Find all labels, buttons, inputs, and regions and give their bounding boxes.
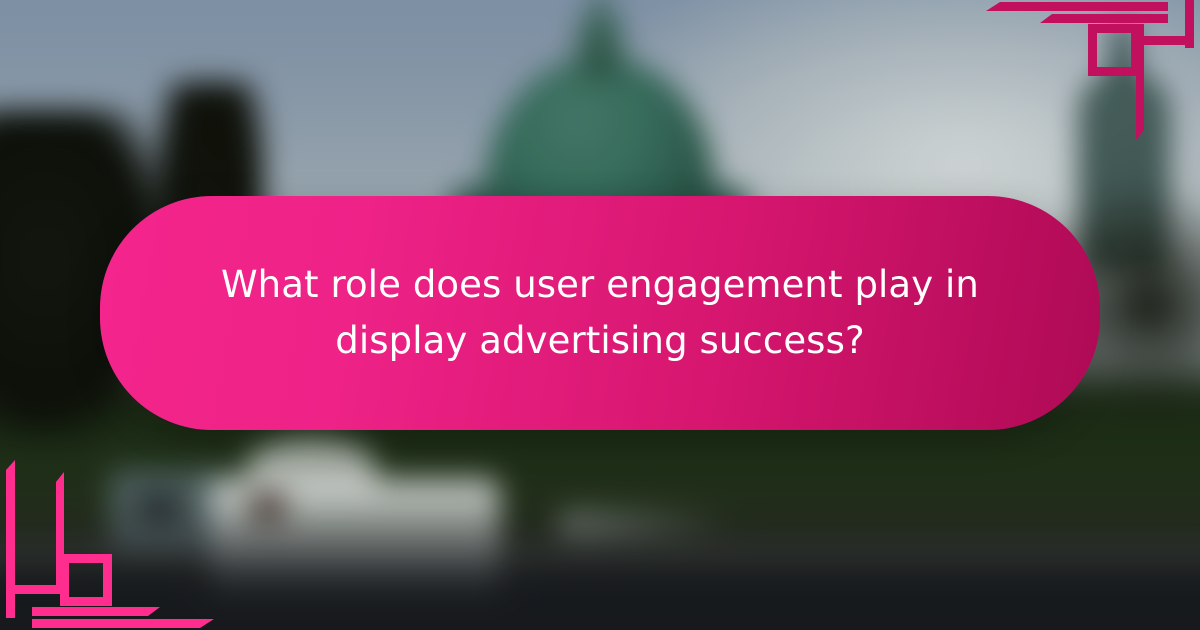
deco-bl-connector-bar bbox=[6, 585, 68, 594]
corner-bracket-top-right bbox=[970, 0, 1200, 150]
dome-spire bbox=[595, 0, 605, 28]
deco-bl-horizontal-bar-short bbox=[32, 607, 160, 616]
deco-bl-vertical-edge bbox=[6, 460, 15, 618]
deco-bl-hollow-square bbox=[60, 554, 112, 606]
deco-tr-connector-bar bbox=[1132, 36, 1194, 45]
question-text: What role does user engagement play in d… bbox=[220, 257, 980, 369]
banner-stage: What role does user engagement play in d… bbox=[0, 0, 1200, 630]
tree-silhouette-small bbox=[196, 90, 248, 210]
deco-bl-horizontal-bar-long bbox=[32, 619, 214, 628]
deco-tr-horizontal-bar-long bbox=[986, 2, 1168, 11]
corner-bracket-bottom-left bbox=[0, 420, 230, 630]
deco-tr-horizontal-bar-short bbox=[1040, 14, 1168, 23]
question-card: What role does user engagement play in d… bbox=[100, 196, 1100, 430]
deco-tr-hollow-square bbox=[1088, 24, 1140, 76]
